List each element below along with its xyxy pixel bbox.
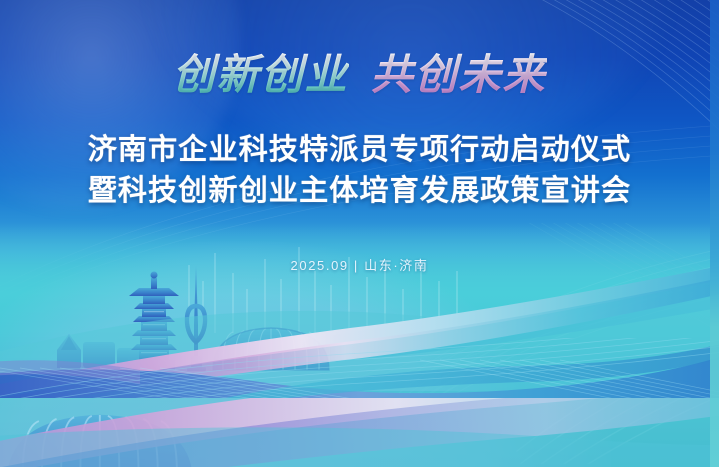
event-date-location: 2025.09 | 山东·济南 (0, 255, 719, 274)
calligraphy-part-1: 创新创业 (172, 53, 348, 99)
event-poster: 创新创业共创未来 济南市企业科技特派员专项行动启动仪式 暨科技创新创业主体培育发… (0, 0, 719, 398)
page-title: 济南市企业科技特派员专项行动启动仪式 暨科技创新创业主体培育发展政策宣讲会 (0, 130, 719, 212)
right-edge-sliver (710, 0, 719, 467)
title-line-1: 济南市企业科技特派员专项行动启动仪式 (88, 134, 632, 166)
title-line-2: 暨科技创新创业主体培育发展政策宣讲会 (0, 171, 719, 212)
strip-wave-ribbons (0, 398, 719, 467)
poster-viewport: 创新创业共创未来 济南市企业科技特派员专项行动启动仪式 暨科技创新创业主体培育发… (0, 0, 719, 467)
strip-scene (0, 398, 719, 467)
calligraphy-part-2: 共创未来 (371, 53, 547, 99)
city-scene (0, 223, 719, 398)
striped-bottom-band (0, 338, 719, 398)
poster-repeat-strip (0, 398, 719, 467)
calligraphy-slogan: 创新创业共创未来 (0, 55, 719, 97)
